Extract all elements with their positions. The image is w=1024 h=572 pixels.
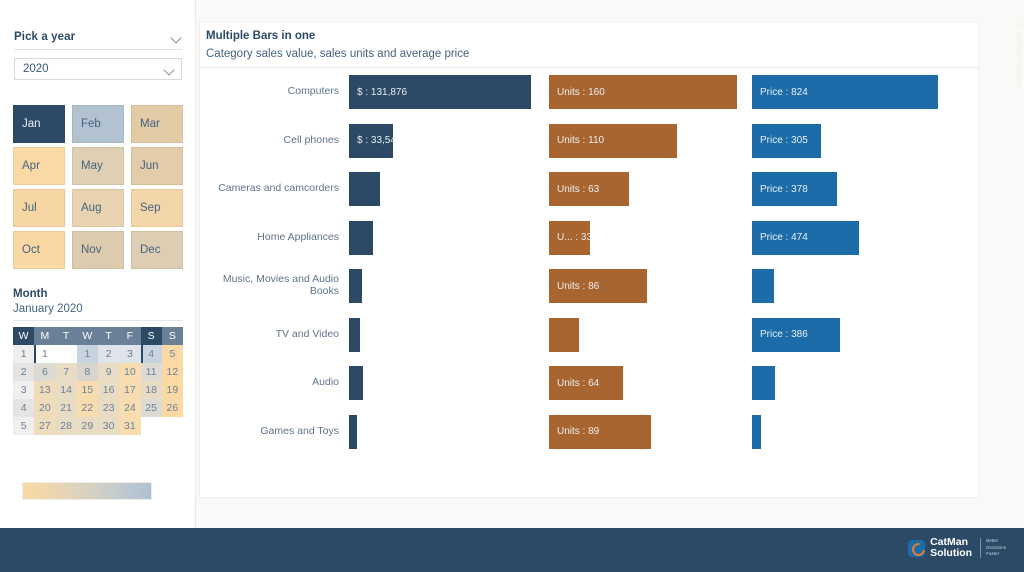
calendar-week-number[interactable]: 2: [13, 363, 34, 381]
calendar-weekday-header[interactable]: F: [119, 327, 140, 345]
bar-value[interactable]: [349, 318, 360, 352]
month-button-label: Dec: [140, 244, 160, 256]
brand-name: CatMan Solution: [930, 537, 972, 559]
calendar-empty-cell: [56, 345, 77, 363]
bar-value[interactable]: [349, 366, 363, 400]
bar-value[interactable]: [349, 415, 357, 449]
calendar-day-cell[interactable]: 21: [56, 399, 77, 417]
bar-price[interactable]: Price : 474: [752, 221, 859, 255]
bar-value-label: Price : 386: [760, 329, 808, 340]
bar-value-label: Price : 474: [760, 232, 808, 243]
bar-value-label: $ : 33,541: [357, 135, 393, 146]
bar-price[interactable]: Price : 824: [752, 75, 938, 109]
calendar-table: WMTWTFSS 1112345267891011123131415161718…: [13, 327, 183, 435]
bar-value-label: U... : 33: [557, 232, 590, 243]
month-button-label: Mar: [140, 118, 160, 130]
panel-subtitle: Category sales value, sales units and av…: [206, 48, 469, 60]
calendar-week-row: 1112345: [13, 345, 183, 363]
category-label: Games and Toys: [200, 408, 344, 456]
calendar-week-number[interactable]: 5: [13, 417, 34, 435]
calendar-weekday-header[interactable]: W: [13, 327, 34, 345]
filters-sidebar: Pick a year 2020 JanFebMarAprMayJunJulAu…: [0, 0, 196, 528]
category-label: TV and Video: [200, 311, 344, 359]
chart-row: Music, Movies and Audio BooksUnits : 86: [200, 262, 980, 310]
bar-price[interactable]: [752, 366, 775, 400]
panel-title: Multiple Bars in one: [206, 30, 315, 42]
month-button-dec[interactable]: Dec: [131, 231, 183, 269]
calendar-day-cell[interactable]: 30: [98, 417, 119, 435]
month-button-label: Nov: [81, 244, 101, 256]
bar-price[interactable]: Price : 378: [752, 172, 837, 206]
bar-price[interactable]: Price : 386: [752, 318, 840, 352]
month-button-aug[interactable]: Aug: [72, 189, 124, 227]
bar-value-label: Units : 86: [557, 281, 599, 292]
bar-value-label: Units : 89: [557, 426, 599, 437]
month-button-label: May: [81, 160, 103, 172]
calendar-day-cell[interactable]: 27: [34, 417, 55, 435]
year-picker-label: Pick a year: [14, 31, 75, 43]
month-button-label: Jul: [22, 202, 37, 214]
month-button-jan[interactable]: Jan: [13, 105, 65, 143]
calendar-day-cell[interactable]: 19: [162, 381, 183, 399]
calendar-body: 1112345267891011123131415161718194202122…: [13, 345, 183, 435]
calendar-week-row: 52728293031: [13, 417, 183, 435]
calendar-weekday-header[interactable]: T: [98, 327, 119, 345]
calendar-day-cell[interactable]: 24: [119, 399, 140, 417]
year-select[interactable]: 2020: [14, 58, 182, 80]
month-button-label: Apr: [22, 160, 40, 172]
chart-row: Computers$ : 131,876Units : 160Price : 8…: [200, 68, 980, 116]
category-label: Cameras and camcorders: [200, 165, 344, 213]
chevron-down-icon[interactable]: [171, 34, 182, 41]
calendar-weekday-header[interactable]: T: [56, 327, 77, 345]
calendar-day-cell[interactable]: 6: [34, 363, 55, 381]
bar-value-label: Price : 305: [760, 135, 808, 146]
calendar-day-cell[interactable]: 26: [162, 399, 183, 417]
bar-value[interactable]: $ : 131,876: [349, 75, 531, 109]
calendar-day-cell[interactable]: 23: [98, 399, 119, 417]
calendar-weekday-header[interactable]: W: [77, 327, 98, 345]
chart-row: AudioUnits : 64: [200, 359, 980, 407]
calendar-day-cell[interactable]: 29: [77, 417, 98, 435]
calendar-day-cell[interactable]: 11: [141, 363, 162, 381]
month-button-may[interactable]: May: [72, 147, 124, 185]
calendar-day-cell[interactable]: 8: [77, 363, 98, 381]
calendar-week-number[interactable]: 3: [13, 381, 34, 399]
calendar-weekday-header[interactable]: M: [34, 327, 55, 345]
calendar-empty-cell: [162, 417, 183, 435]
calendar-day-cell[interactable]: 1: [77, 345, 98, 363]
bar-value[interactable]: [349, 172, 380, 206]
calendar-day-cell[interactable]: 5: [162, 345, 183, 363]
month-button-oct[interactable]: Oct: [13, 231, 65, 269]
calendar-day-cell-selected[interactable]: 1: [34, 345, 55, 363]
chart-row: Home AppliancesU... : 33Price : 474: [200, 214, 980, 262]
bar-units[interactable]: Units : 64: [549, 366, 623, 400]
bar-value-label: Units : 63: [557, 184, 599, 195]
bar-value[interactable]: [349, 269, 362, 303]
month-button-label: Feb: [81, 118, 101, 130]
bar-value-label: $ : 131,876: [357, 87, 407, 98]
month-button-grid: JanFebMarAprMayJunJulAugSepOctNovDec: [13, 105, 183, 269]
brand-tagline-line: Decisions: [986, 545, 1006, 552]
bar-chart-plot: Computers$ : 131,876Units : 160Price : 8…: [200, 68, 980, 498]
month-button-apr[interactable]: Apr: [13, 147, 65, 185]
calendar-day-cell[interactable]: 22: [77, 399, 98, 417]
calendar-day-cell[interactable]: 14: [56, 381, 77, 399]
category-label: Audio: [200, 359, 344, 407]
bar-value[interactable]: $ : 33,541: [349, 124, 393, 158]
month-button-label: Jan: [22, 118, 41, 130]
calendar-subtitle: January 2020: [13, 303, 183, 321]
month-button-label: Oct: [22, 244, 40, 256]
calendar-day-cell[interactable]: 10: [119, 363, 140, 381]
brand-logo[interactable]: CatMan Solution BetterDecisionsFaster: [908, 537, 1006, 559]
calendar-day-cell[interactable]: 17: [119, 381, 140, 399]
chart-row: TV and VideoPrice : 386: [200, 311, 980, 359]
bar-units[interactable]: Units : 86: [549, 269, 647, 303]
brand-tagline: BetterDecisionsFaster: [980, 538, 1006, 559]
bar-value-label: Price : 378: [760, 184, 808, 195]
calendar-day-cell[interactable]: 18: [141, 381, 162, 399]
brand-line-2: Solution: [930, 548, 972, 559]
month-button-label: Aug: [81, 202, 101, 214]
calendar-day-cell[interactable]: 12: [162, 363, 183, 381]
dashboard-root: Pick a year 2020 JanFebMarAprMayJunJulAu…: [0, 0, 1024, 572]
calendar-day-cell[interactable]: 25: [141, 399, 162, 417]
calendar-day-cell[interactable]: 9: [98, 363, 119, 381]
bar-units[interactable]: U... : 33: [549, 221, 590, 255]
bar-value-label: Units : 110: [557, 135, 604, 146]
bar-units[interactable]: Units : 89: [549, 415, 651, 449]
calendar-empty-cell: [141, 417, 162, 435]
calendar-day-cell[interactable]: 16: [98, 381, 119, 399]
calendar-day-cell[interactable]: 4: [141, 345, 162, 363]
month-button-feb[interactable]: Feb: [72, 105, 124, 143]
bar-units[interactable]: Units : 63: [549, 172, 629, 206]
bar-units[interactable]: Units : 160: [549, 75, 737, 109]
bar-price[interactable]: Price : 305: [752, 124, 821, 158]
month-button-jul[interactable]: Jul: [13, 189, 65, 227]
chart-row: Cameras and camcordersUnits : 63Price : …: [200, 165, 980, 213]
calendar-week-number[interactable]: 4: [13, 399, 34, 417]
month-button-label: Sep: [140, 202, 160, 214]
calendar-week-row: 420212223242526: [13, 399, 183, 417]
calendar-day-cell[interactable]: 15: [77, 381, 98, 399]
calendar-week-row: 313141516171819: [13, 381, 183, 399]
brand-tagline-line: Faster: [986, 551, 1006, 558]
catman-swirl-icon: [908, 540, 925, 557]
category-label: Cell phones: [200, 117, 344, 165]
calendar-header-row: WMTWTFSS: [13, 327, 183, 345]
bar-value-label: Units : 64: [557, 378, 599, 389]
year-picker: Pick a year 2020: [14, 31, 182, 80]
calendar-panel: Month January 2020 WMTWTFSS 111234526789…: [13, 288, 183, 435]
year-selected-value: 2020: [23, 63, 49, 75]
bar-units[interactable]: Units : 110: [549, 124, 677, 158]
calendar-week-row: 26789101112: [13, 363, 183, 381]
bar-price[interactable]: [752, 269, 774, 303]
chart-row: Cell phones$ : 33,541Units : 110Price : …: [200, 117, 980, 165]
copyright-watermark: © CatMan Solution: [1015, 22, 1022, 88]
month-button-label: Jun: [140, 160, 159, 172]
calendar-day-cell[interactable]: 13: [34, 381, 55, 399]
footer-bar: CatMan Solution BetterDecisionsFaster: [0, 528, 1024, 572]
month-button-mar[interactable]: Mar: [131, 105, 183, 143]
bar-value-label: Units : 160: [557, 87, 605, 98]
calendar-week-number[interactable]: 1: [13, 345, 34, 363]
chart-panel: Multiple Bars in one Category sales valu…: [199, 21, 979, 498]
calendar-day-cell[interactable]: 3: [119, 345, 140, 363]
calendar-day-cell[interactable]: 2: [98, 345, 119, 363]
category-label: Computers: [200, 68, 344, 116]
bar-value[interactable]: [349, 221, 373, 255]
month-button-jun[interactable]: Jun: [131, 147, 183, 185]
calendar-title: Month: [13, 288, 183, 300]
category-label: Home Appliances: [200, 214, 344, 262]
brand-tagline-line: Better: [986, 538, 1006, 545]
bar-units[interactable]: [549, 318, 579, 352]
month-button-sep[interactable]: Sep: [131, 189, 183, 227]
chevron-down-icon[interactable]: [164, 66, 175, 73]
calendar-day-cell[interactable]: 20: [34, 399, 55, 417]
calendar-weekday-header[interactable]: S: [162, 327, 183, 345]
calendar-day-cell[interactable]: 31: [119, 417, 140, 435]
calendar-weekday-header[interactable]: S: [141, 327, 162, 345]
chart-row: Games and ToysUnits : 89: [200, 408, 980, 456]
bar-price[interactable]: [752, 415, 761, 449]
category-label: Music, Movies and Audio Books: [200, 262, 344, 310]
bar-value-label: Price : 824: [760, 87, 808, 98]
calendar-day-cell[interactable]: 7: [56, 363, 77, 381]
color-scale-legend: [22, 482, 152, 500]
year-picker-header[interactable]: Pick a year: [14, 31, 182, 50]
month-button-nov[interactable]: Nov: [72, 231, 124, 269]
calendar-day-cell[interactable]: 28: [56, 417, 77, 435]
